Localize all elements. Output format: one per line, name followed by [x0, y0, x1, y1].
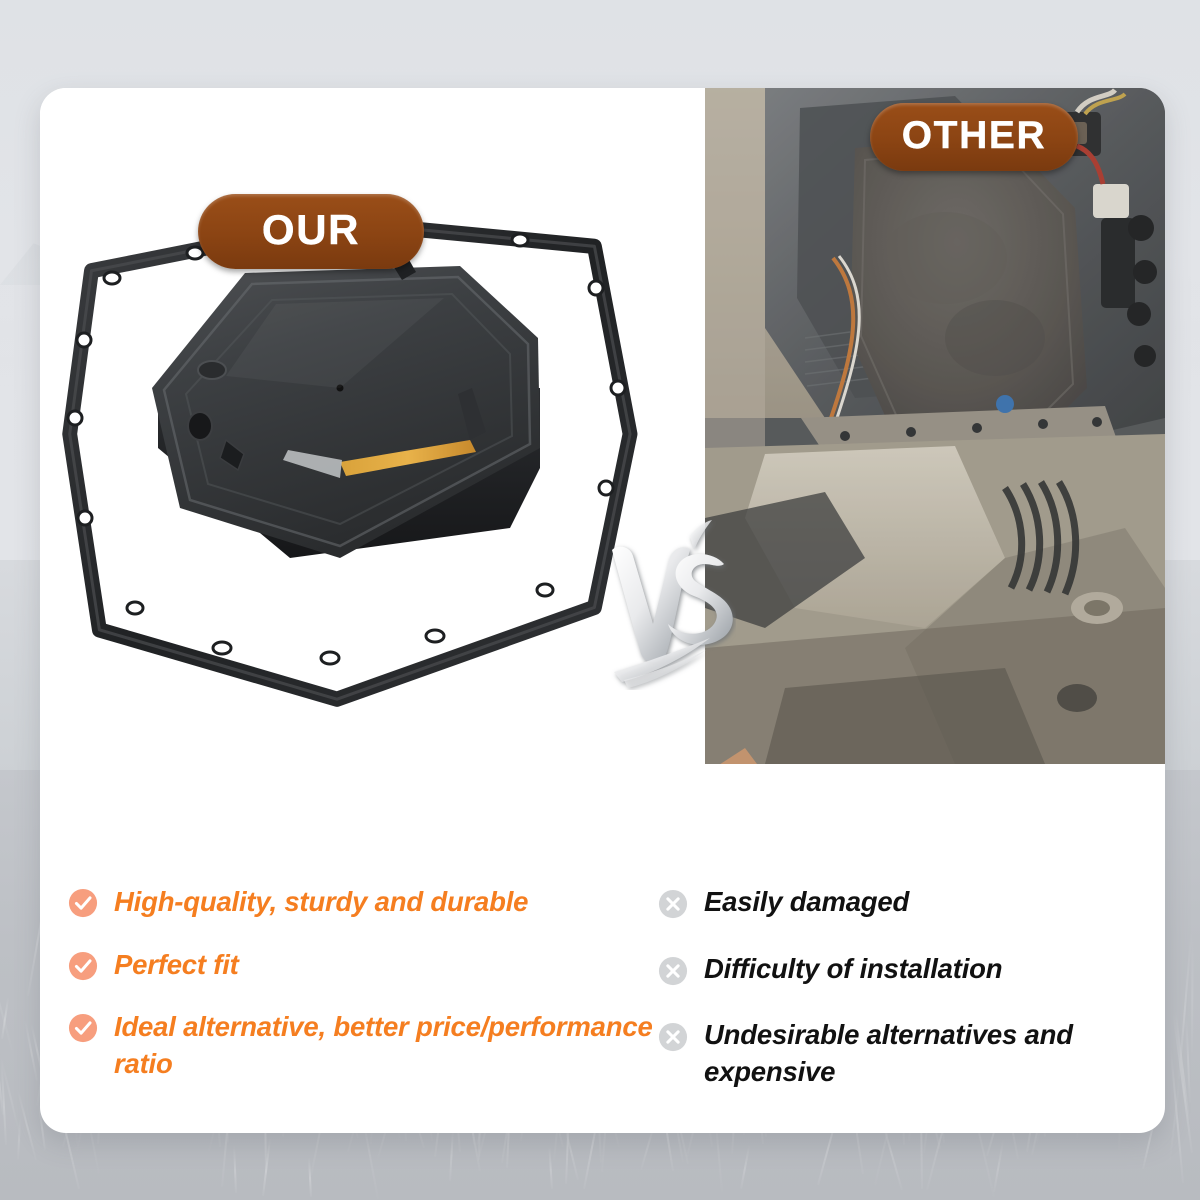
feature-lists: High-quality, sturdy and durablePerfect … — [40, 764, 1165, 1133]
comparison-images: OUR — [40, 88, 1165, 764]
check-circle-icon — [68, 1013, 98, 1043]
benefit-item: Perfect fit — [68, 947, 668, 984]
drawback-label: Undesirable alternatives and expensive — [704, 1017, 1158, 1090]
benefit-item: High-quality, sturdy and durable — [68, 884, 668, 921]
vs-graphic — [606, 520, 736, 690]
drawback-item: Undesirable alternatives and expensive — [658, 1017, 1158, 1090]
benefit-item: Ideal alternative, better price/performa… — [68, 1009, 668, 1082]
cross-circle-icon — [658, 1022, 688, 1052]
drawbacks-list: Easily damagedDifficulty of installation… — [658, 884, 1158, 1120]
benefit-label: High-quality, sturdy and durable — [114, 884, 528, 921]
benefit-label: Perfect fit — [114, 947, 239, 984]
cross-circle-icon — [658, 956, 688, 986]
our-badge: OUR — [198, 194, 424, 269]
other-product-image — [705, 88, 1165, 764]
check-circle-icon — [68, 888, 98, 918]
drawback-item: Easily damaged — [658, 884, 1158, 921]
check-circle-icon — [68, 951, 98, 981]
benefit-label: Ideal alternative, better price/performa… — [114, 1009, 668, 1082]
drawback-item: Difficulty of installation — [658, 951, 1158, 988]
benefits-list: High-quality, sturdy and durablePerfect … — [68, 884, 668, 1108]
comparison-card: OUR — [40, 88, 1165, 1133]
other-product-pane: OTHER — [705, 88, 1165, 764]
drawback-label: Easily damaged — [704, 884, 909, 921]
cross-circle-icon — [658, 889, 688, 919]
other-badge: OTHER — [870, 103, 1078, 171]
drawback-label: Difficulty of installation — [704, 951, 1002, 988]
